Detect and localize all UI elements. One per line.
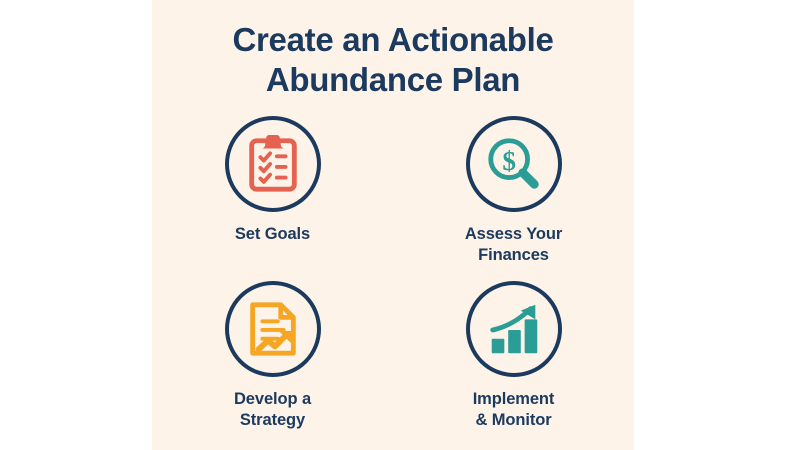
steps-grid: Set Goals $ Assess Your Financ bbox=[152, 112, 634, 442]
step-icon-ring bbox=[466, 281, 562, 377]
step-label-line-1: Set Goals bbox=[235, 224, 310, 245]
infographic-canvas: Create an Actionable Abundance Plan bbox=[0, 0, 800, 450]
bar-chart-arrow-icon bbox=[483, 298, 545, 360]
step-label: Implement & Monitor bbox=[473, 389, 555, 430]
step-label-line-1: Assess Your bbox=[465, 224, 562, 245]
page-title: Create an Actionable Abundance Plan bbox=[152, 20, 634, 101]
magnifying-glass-dollar-icon: $ bbox=[483, 133, 545, 195]
step-icon-ring bbox=[225, 116, 321, 212]
step-item-assess-your-finances: $ Assess Your Finances bbox=[393, 112, 634, 277]
clipboard-checklist-icon bbox=[242, 133, 304, 195]
step-label-line-1: Develop a bbox=[234, 389, 311, 410]
step-item-set-goals: Set Goals bbox=[152, 112, 393, 277]
step-label: Assess Your Finances bbox=[465, 224, 562, 265]
step-item-develop-a-strategy: Develop a Strategy bbox=[152, 277, 393, 442]
step-label: Develop a Strategy bbox=[234, 389, 311, 430]
step-label: Set Goals bbox=[235, 224, 310, 245]
content-panel: Create an Actionable Abundance Plan bbox=[152, 0, 634, 450]
svg-text:$: $ bbox=[502, 146, 516, 176]
page-title-line-2: Abundance Plan bbox=[152, 60, 634, 100]
step-item-implement-and-monitor: Implement & Monitor bbox=[393, 277, 634, 442]
step-icon-ring bbox=[225, 281, 321, 377]
step-label-line-1: Implement bbox=[473, 389, 555, 410]
step-label-line-2: Strategy bbox=[234, 410, 311, 431]
page-title-line-1: Create an Actionable bbox=[152, 20, 634, 60]
document-growth-arrow-icon bbox=[242, 298, 304, 360]
step-label-line-2: Finances bbox=[465, 245, 562, 266]
step-label-line-2: & Monitor bbox=[473, 410, 555, 431]
step-icon-ring: $ bbox=[466, 116, 562, 212]
